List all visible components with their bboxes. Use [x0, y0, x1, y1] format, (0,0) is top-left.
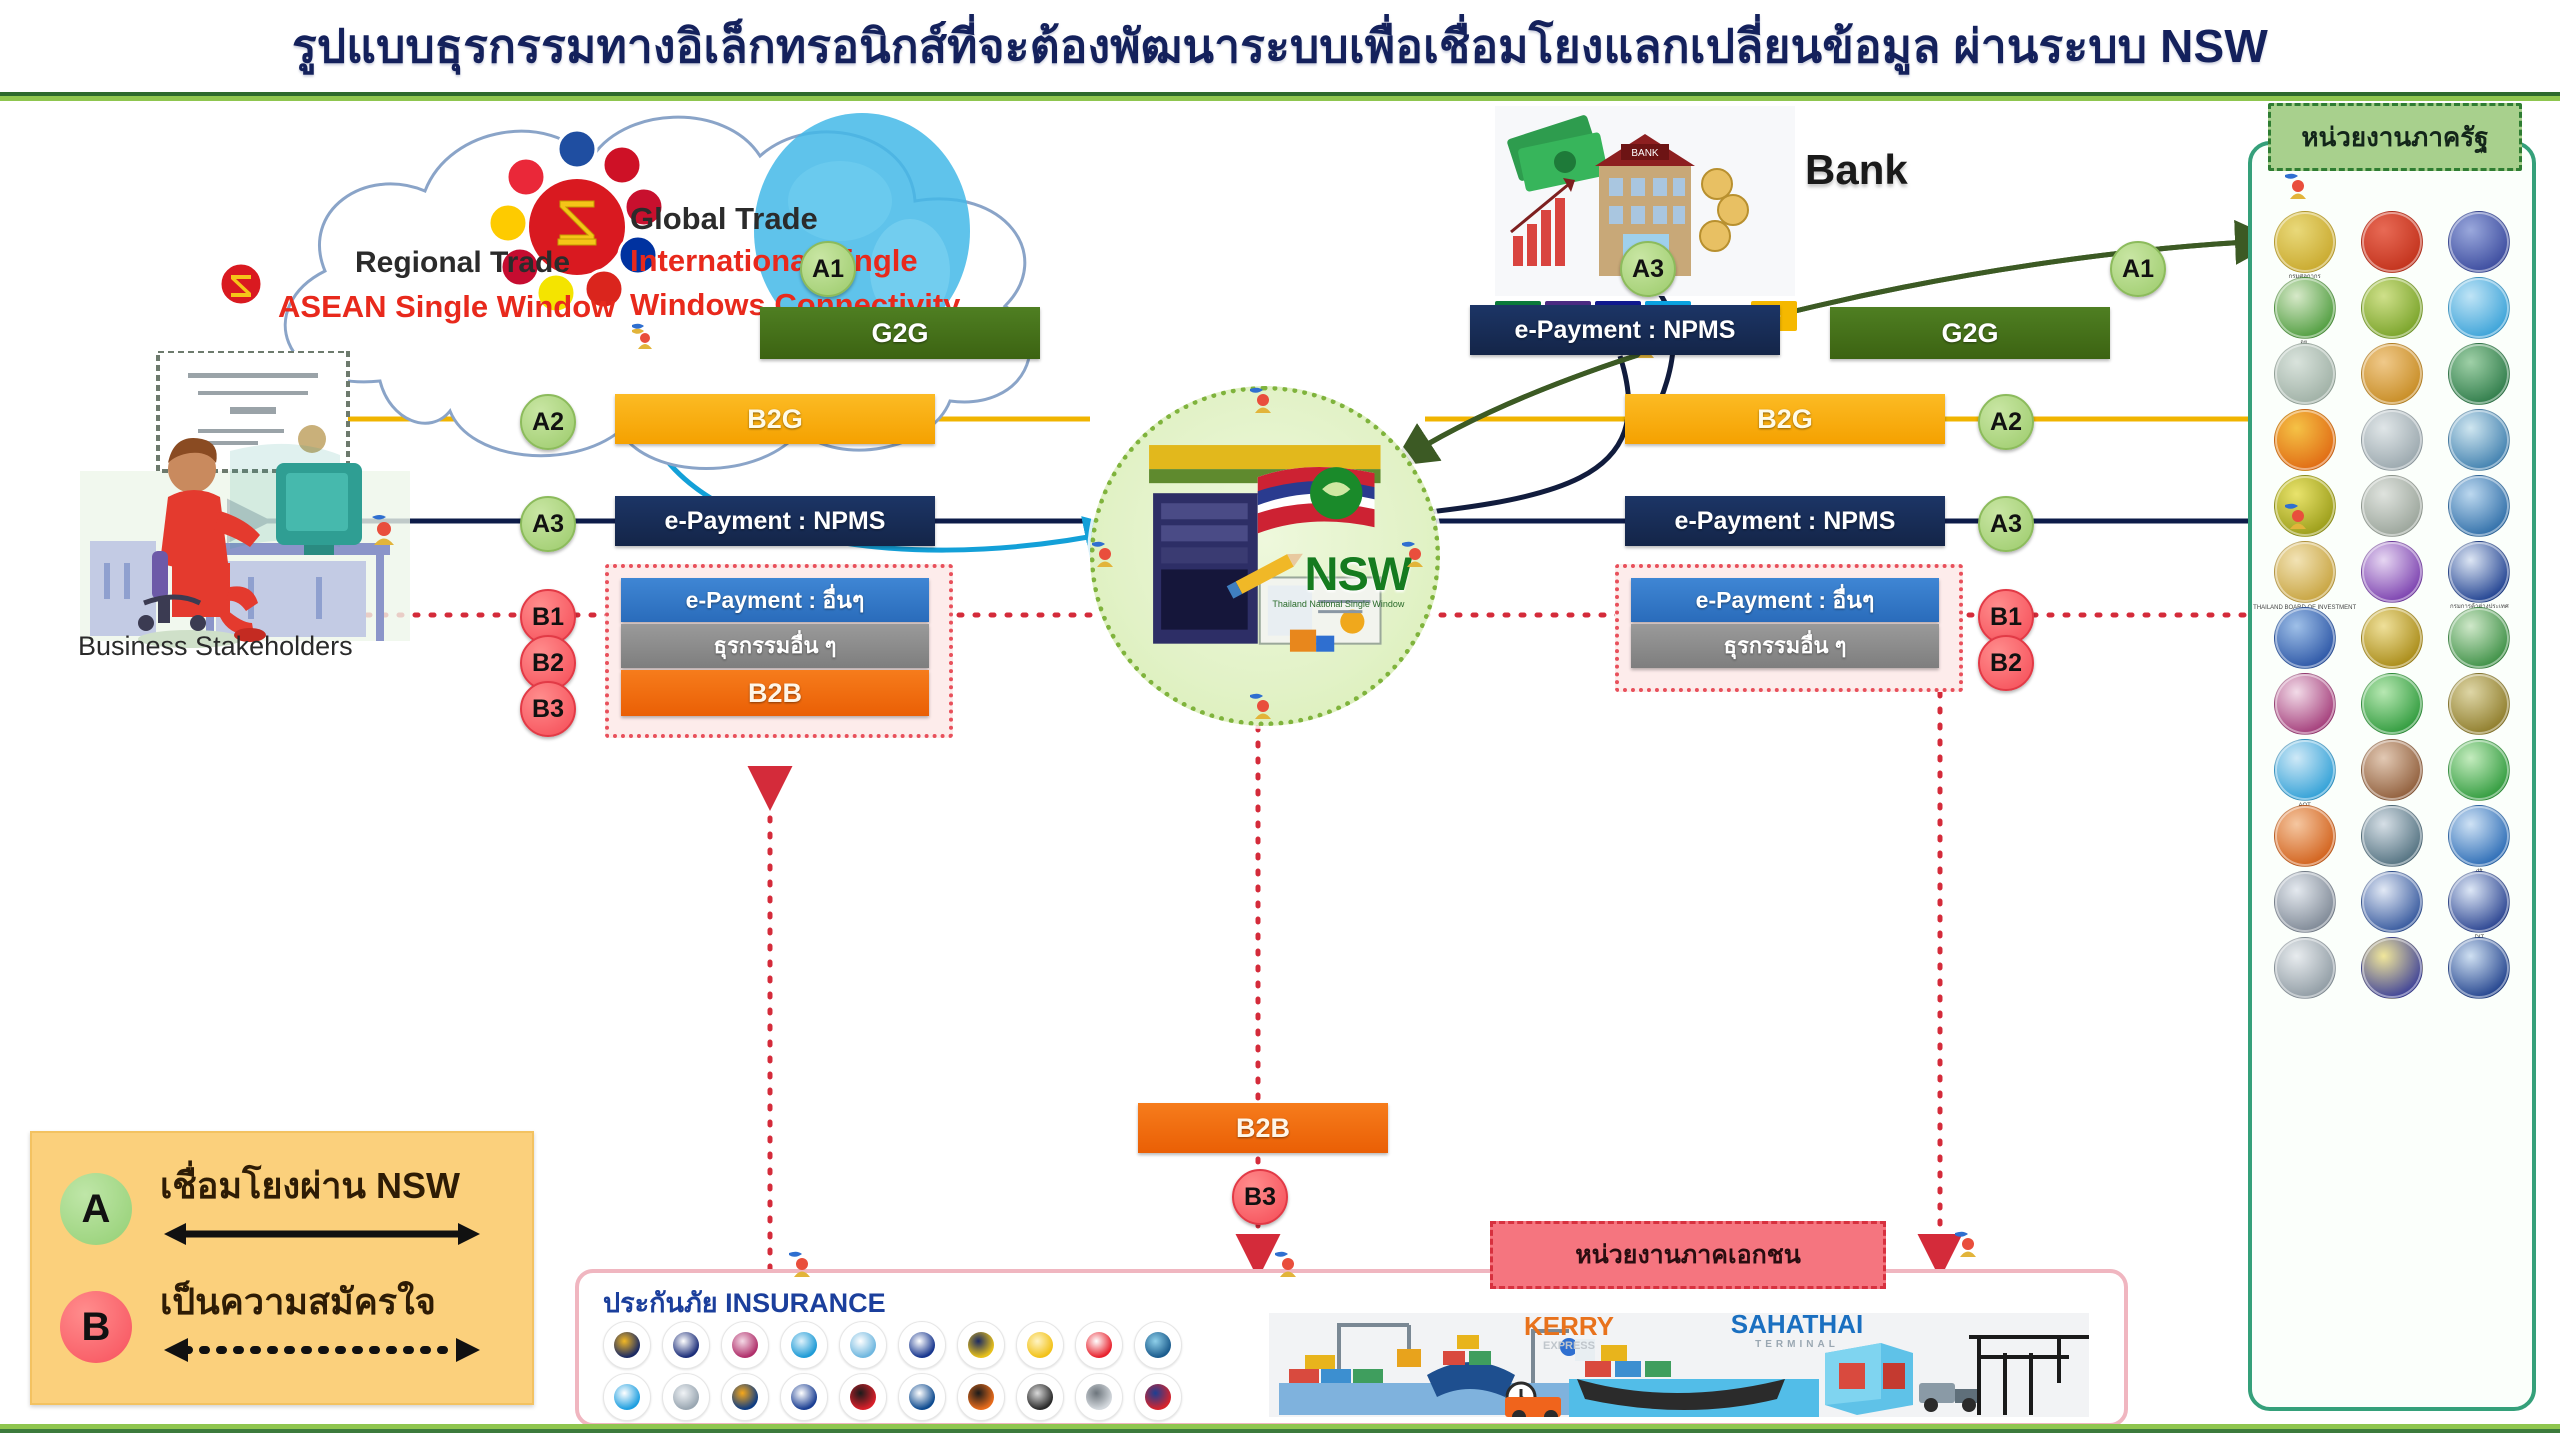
- insurer-glyph-icon: [1086, 1384, 1112, 1410]
- insurer-lmg: [1134, 1373, 1182, 1421]
- insurer-muang-thai: [721, 1321, 769, 1369]
- legend-a-text: เชื่อมโยงผ่าน NSW: [160, 1157, 460, 1214]
- gov-seal-port-authority: [2361, 739, 2423, 801]
- insurer-glyph-icon: [1086, 1332, 1112, 1358]
- badge-b2-right: B2: [1978, 635, 2034, 691]
- gov-seal-dept-foreign-trade-dft: dft: [2448, 805, 2510, 867]
- insurer-tip: [957, 1373, 1005, 1421]
- gov-seal-dept-trade-negotiations: [2361, 871, 2423, 933]
- gov-seal-dept-land-transport: [2448, 739, 2510, 801]
- insurer-glyph-icon: [1145, 1384, 1171, 1410]
- gov-seal-revenue-department: [2274, 607, 2336, 669]
- insurer-glyph-icon: [968, 1332, 994, 1358]
- svg-text:EXPRESS: EXPRESS: [1543, 1340, 1595, 1352]
- user-flag-sprite-icon: [2282, 171, 2308, 199]
- gov-seal-dept-fisheries: [2361, 343, 2423, 405]
- gov-agencies-panel: กรมศุลกากรอย.THAILAND BOARD OF INVESTMEN…: [2248, 141, 2536, 1411]
- gov-seal-dept-internal-trade: DIT: [2448, 871, 2510, 933]
- gov-seal-dept-mineral-fuels: [2448, 409, 2510, 471]
- bank-npms-label: e-Payment : NPMS: [1470, 305, 1780, 355]
- center-b2b-label: B2B: [1138, 1103, 1388, 1153]
- nsw-label: NSW: [1305, 546, 1412, 601]
- svg-text:KERRY: KERRY: [1524, 1313, 1614, 1341]
- insurer-glyph-icon: [791, 1384, 817, 1410]
- left-epay-other-label: e-Payment : อื่นๆ: [621, 578, 929, 622]
- insurance-logo-row-1: [603, 1321, 1182, 1369]
- gov-seal-fda-thailand: อย.: [2274, 277, 2336, 339]
- business-stakeholder-illustration: [80, 351, 500, 651]
- cloud-international-single: International Single: [630, 243, 918, 279]
- user-flag-sprite-icon: [1247, 691, 1273, 719]
- insurer-glyph-icon: [850, 1332, 876, 1358]
- gov-seal-dept-foreign-trade: กรมการค้าต่างประเทศ: [2448, 541, 2510, 603]
- right-npms-label: e-Payment : NPMS: [1625, 496, 1945, 546]
- cloud-global-trade: Global Trade: [630, 201, 818, 237]
- insurer-chubb: [780, 1373, 828, 1421]
- badge-a1-cloud: A1: [800, 241, 856, 297]
- insurer-mittare: [662, 1373, 710, 1421]
- insurer-allianz: [898, 1373, 946, 1421]
- gov-seal-royal-thai-police: [2448, 211, 2510, 273]
- gov-seal-dept-industrial-works: [2274, 343, 2336, 405]
- legend-dotted-arrow-icon: [162, 1335, 482, 1365]
- insurer-glyph-icon: [909, 1332, 935, 1358]
- nsw-subtitle: Thailand National Single Window: [1272, 599, 1404, 609]
- user-flag-sprite-icon: [786, 1249, 812, 1277]
- cloud-regional-trade: Regional Trade: [355, 246, 570, 280]
- insurer-navakij: [898, 1321, 946, 1369]
- business-stakeholders-caption: Business Stakeholders: [78, 631, 353, 662]
- gov-seal-dept-industrial-standards: [2361, 805, 2423, 867]
- insurer-glyph-icon: [614, 1384, 640, 1410]
- insurer-glyph-icon: [1027, 1332, 1053, 1358]
- insurer-ksk: [1075, 1321, 1123, 1369]
- gov-seal-customs-department: กรมศุลกากร: [2274, 211, 2336, 273]
- private-sector-panel: ประกันภัย INSURANCE: [575, 1269, 2128, 1427]
- top-rule: [0, 92, 2560, 101]
- insurer-krungthai-panich: [1016, 1321, 1064, 1369]
- insurer-indara: [1134, 1321, 1182, 1369]
- insurer-dhipaya: [603, 1321, 651, 1369]
- user-flag-sprite-icon: [2282, 501, 2308, 529]
- insurer-southeast: [839, 1373, 887, 1421]
- page-title: รูปแบบธุรกรรมทางอิเล็กทรอนิกส์ที่จะต้องพ…: [292, 10, 2268, 83]
- page-title-band: รูปแบบธุรกรรมทางอิเล็กทรอนิกส์ที่จะต้องพ…: [0, 0, 2560, 92]
- gov-seal-dept-national-parks: [2361, 673, 2423, 735]
- gov-seal-grid: กรมศุลกากรอย.THAILAND BOARD OF INVESTMEN…: [2264, 211, 2520, 999]
- insurer-viriyah: [780, 1321, 828, 1369]
- asean-emblem-icon: [218, 261, 264, 307]
- legend-box: A เชื่อมโยงผ่าน NSW B เป็นความสมัครใจ: [30, 1131, 534, 1405]
- user-flag-sprite-icon: [1399, 539, 1425, 567]
- user-flag-sprite-icon: [628, 321, 654, 349]
- right-epay-other-label: e-Payment : อื่นๆ: [1631, 578, 1939, 622]
- svg-text:SAHATHAI: SAHATHAI: [1731, 1313, 1863, 1339]
- legend-badge-b: B: [60, 1291, 132, 1363]
- insurer-thaivivat: [839, 1321, 887, 1369]
- gov-seal-board-of-investment: THAILAND BOARD OF INVESTMENT: [2274, 541, 2336, 603]
- insurer-glyph-icon: [732, 1332, 758, 1358]
- insurer-glyph-icon: [968, 1384, 994, 1410]
- user-flag-sprite-icon: [1089, 539, 1115, 567]
- gov-seal-alcohol-control: [2274, 409, 2336, 471]
- insurer-safety: [721, 1373, 769, 1421]
- gov-seal-garuda-emblem: [2361, 211, 2423, 273]
- diagram-root: รูปแบบธุรกรรมทางอิเล็กทรอนิกส์ที่จะต้องพ…: [0, 0, 2560, 1440]
- gov-seal-dept-agriculture-extension: [2361, 607, 2423, 669]
- gov-seal-marine-department: [2448, 475, 2510, 537]
- left-other-txn-label: ธุรกรรมอื่น ๆ: [621, 624, 929, 668]
- diagram-canvas: Regional Trade ASEAN Single Window Globa…: [0, 101, 2560, 1424]
- insurance-logo-row-2: [603, 1373, 1182, 1421]
- badge-b3-left: B3: [520, 681, 576, 737]
- gov-seal-dept-intellectual-property: [2361, 541, 2423, 603]
- gov-seal-dept-agriculture: [2361, 277, 2423, 339]
- gov-seal-ministry-defence: [2448, 673, 2510, 735]
- svg-text:BANK: BANK: [1631, 148, 1659, 159]
- user-flag-sprite-icon: [1952, 1229, 1978, 1257]
- gov-seal-fire-safety: [2274, 805, 2336, 867]
- badge-a1-gov: A1: [2110, 241, 2166, 297]
- badge-a3-right: A3: [1978, 496, 2034, 552]
- insurer-glyph-icon: [673, 1384, 699, 1410]
- logistics-illustration: KERRY EXPRESS SAHATHAI TERMINAL: [1269, 1313, 2089, 1417]
- svg-text:TERMINAL: TERMINAL: [1755, 1339, 1839, 1350]
- insurer-roong-ruang: [1016, 1373, 1064, 1421]
- left-npms-label: e-Payment : NPMS: [615, 496, 935, 546]
- gov-g2g-label: G2G: [1830, 307, 2110, 359]
- cloud-g2g-label: G2G: [760, 307, 1040, 359]
- gov-seal-airports-of-thailand: AOT: [2274, 739, 2336, 801]
- insurer-glyph-icon: [614, 1332, 640, 1358]
- badge-a3-bank: A3: [1620, 241, 1676, 297]
- gov-seal-dept-business-development: [2274, 871, 2336, 933]
- gov-seal-dept-water-resources: [2448, 277, 2510, 339]
- badge-b3-center: B3: [1232, 1169, 1288, 1225]
- insurer-glyph-icon: [1027, 1384, 1053, 1410]
- user-flag-sprite-icon: [1272, 1249, 1298, 1277]
- badge-a3-left: A3: [520, 496, 576, 552]
- insurer-bangkok-insurance: [662, 1321, 710, 1369]
- badge-a2-right: A2: [1978, 394, 2034, 450]
- bank-label: Bank: [1805, 146, 1908, 194]
- cloud-asean-single-window: ASEAN Single Window: [278, 289, 615, 325]
- legend-b-text: เป็นความสมัครใจ: [160, 1273, 436, 1330]
- gov-seal-dept-rice: [2361, 475, 2423, 537]
- gov-seal-livestock-development: [2361, 409, 2423, 471]
- gov-seal-excise-department: [2448, 343, 2510, 405]
- insurer-asia-insurance: [603, 1373, 651, 1421]
- private-sector-title: หน่วยงานภาคเอกชน: [1490, 1221, 1886, 1289]
- badge-a2-left: A2: [520, 394, 576, 450]
- bottom-rule: [0, 1424, 2560, 1433]
- insurer-glyph-icon: [909, 1384, 935, 1410]
- insurer-glyph-icon: [673, 1332, 699, 1358]
- insurer-generic: [1075, 1373, 1123, 1421]
- gov-seal-dept-health: [2274, 673, 2336, 735]
- left-b2g-label: B2G: [615, 394, 935, 444]
- insurer-syn-mun-kong: [957, 1321, 1005, 1369]
- gov-agencies-title: หน่วยงานภาครัฐ: [2268, 103, 2522, 171]
- gov-seal-atomic-energy-office: [2361, 937, 2423, 999]
- user-flag-sprite-icon: [1247, 385, 1273, 413]
- gov-seal-dept-forestry: [2448, 607, 2510, 669]
- gov-seal-thai-chamber: [2448, 937, 2510, 999]
- insurer-glyph-icon: [732, 1384, 758, 1410]
- nsw-hub-node[interactable]: NSW Thailand National Single Window: [1090, 386, 1440, 726]
- insurance-title: ประกันภัย INSURANCE: [603, 1281, 886, 1324]
- legend-badge-a: A: [60, 1173, 132, 1245]
- insurer-glyph-icon: [850, 1384, 876, 1410]
- right-b2g-label: B2G: [1625, 394, 1945, 444]
- right-other-txn-label: ธุรกรรมอื่น ๆ: [1631, 624, 1939, 668]
- left-b2b-label: B2B: [621, 670, 929, 716]
- insurer-glyph-icon: [791, 1332, 817, 1358]
- legend-solid-arrow-icon: [162, 1219, 482, 1249]
- insurer-glyph-icon: [1145, 1332, 1171, 1358]
- gov-seal-national-broadcasting: [2274, 937, 2336, 999]
